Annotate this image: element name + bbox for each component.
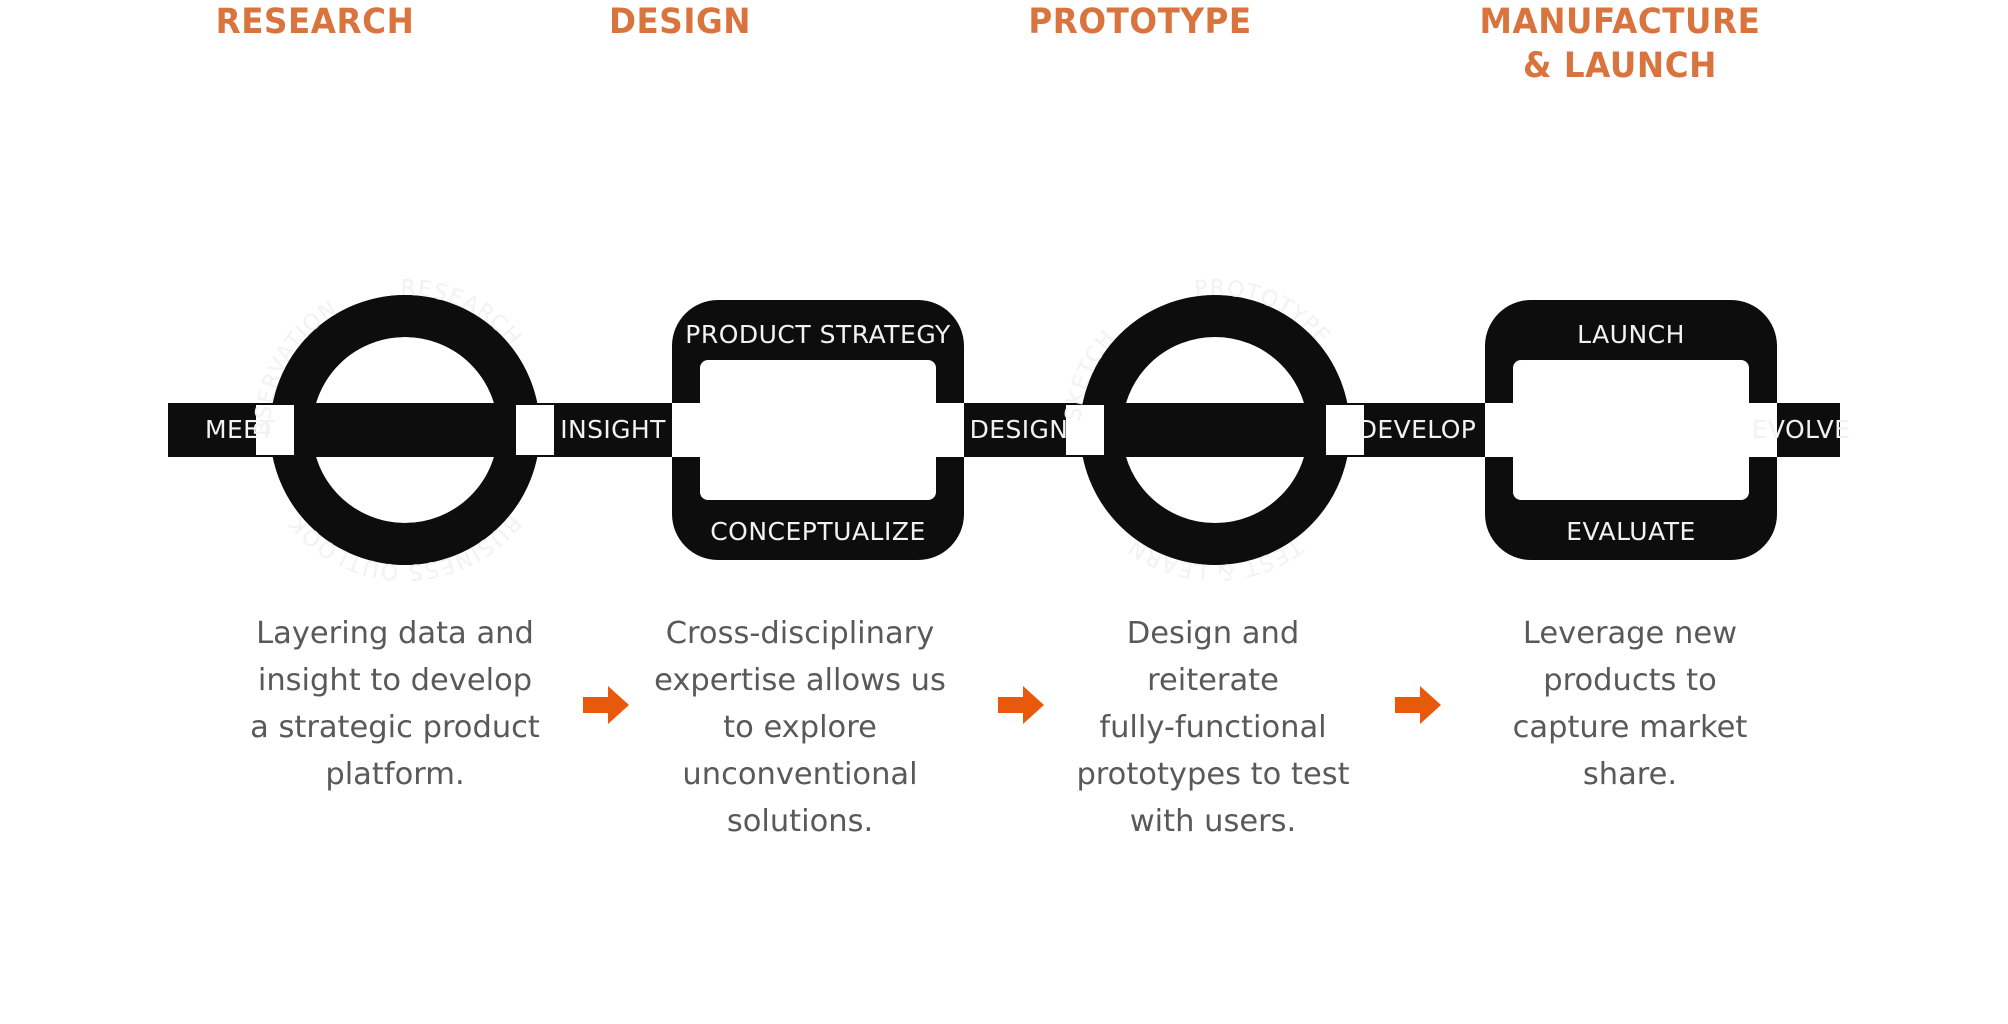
connector-label-evolve: EVOLVE (1752, 415, 1851, 444)
description-manufacture-line-1: Leverage new (1523, 616, 1737, 651)
description-design-line-4: unconventional (682, 757, 917, 792)
description-research-line-1: Layering data and (256, 616, 534, 651)
process-chain: OBSERVATION RESEARCH BUSINESS OUTLOOK PR… (0, 255, 2008, 600)
description-research-line-2: insight to develop (258, 663, 532, 698)
description-manufacture-line-2: products to (1543, 663, 1717, 698)
stage-title-manufacture-launch: MANUFACTURE & LAUNCH (1434, 0, 1806, 88)
description-design-line-1: Cross-disciplinary (666, 616, 935, 651)
node-manufacture-launch: LAUNCH EVALUATE (1485, 300, 1777, 560)
stage-title-prototype-line1: PROTOTYPE (1028, 2, 1251, 42)
flow-arrow-research-to-design-icon (583, 684, 629, 726)
description-manufacture-line-4: share. (1583, 757, 1677, 792)
description-research: Layering data and insight to develop a s… (215, 610, 575, 798)
description-prototype-line-1: Design and (1127, 616, 1299, 651)
description-manufacture-launch: Leverage new products to capture market … (1470, 610, 1790, 798)
flow-arrow-design-to-prototype-icon (998, 684, 1044, 726)
description-prototype-line-5: with users. (1130, 804, 1297, 839)
flow-arrow-prototype-to-launch-icon (1395, 684, 1441, 726)
description-research-line-3: a strategic product (250, 710, 540, 745)
connector-label-insight: INSIGHT (560, 415, 666, 444)
description-prototype-line-3: fully-functional (1099, 710, 1326, 745)
stage-titles: RESEARCH DESIGN PROTOTYPE MANUFACTURE & … (0, 0, 2008, 110)
description-manufacture-line-3: capture market (1513, 710, 1748, 745)
node-label-evaluate: EVALUATE (1566, 517, 1696, 546)
description-design-line-3: to explore (723, 710, 877, 745)
stage-title-design: DESIGN (587, 0, 773, 44)
description-design: Cross-disciplinary expertise allows us t… (630, 610, 970, 845)
node-label-launch: LAUNCH (1577, 320, 1685, 349)
stage-title-research: RESEARCH (189, 0, 440, 44)
stage-title-design-line1: DESIGN (609, 2, 751, 42)
stage-descriptions: Layering data and insight to develop a s… (0, 610, 2008, 870)
connector-label-design: DESIGN (970, 415, 1069, 444)
description-prototype-line-4: prototypes to test (1076, 757, 1349, 792)
stage-title-manufacture-line2: & LAUNCH (1434, 44, 1806, 88)
node-research: OBSERVATION RESEARCH BUSINESS OUTLOOK (0, 255, 554, 584)
connector-label-develop: DEVELOP (1358, 415, 1477, 444)
node-label-conceptualize: CONCEPTUALIZE (710, 517, 926, 546)
description-prototype: Design and reiterate fully-functional pr… (1048, 610, 1378, 845)
stage-title-research-line1: RESEARCH (216, 2, 415, 42)
node-label-product-strategy: PRODUCT STRATEGY (685, 320, 951, 349)
process-diagram: RESEARCH DESIGN PROTOTYPE MANUFACTURE & … (0, 0, 2008, 1024)
description-research-line-4: platform. (325, 757, 464, 792)
stage-title-prototype: PROTOTYPE (1010, 0, 1270, 44)
description-prototype-line-2: reiterate (1147, 663, 1279, 698)
stage-title-manufacture-line1: MANUFACTURE (1480, 2, 1761, 42)
description-design-line-5: solutions. (727, 804, 873, 839)
node-design: PRODUCT STRATEGY CONCEPTUALIZE (672, 300, 964, 560)
connector-label-meet: MEET (205, 415, 275, 444)
description-design-line-2: expertise allows us (654, 663, 946, 698)
